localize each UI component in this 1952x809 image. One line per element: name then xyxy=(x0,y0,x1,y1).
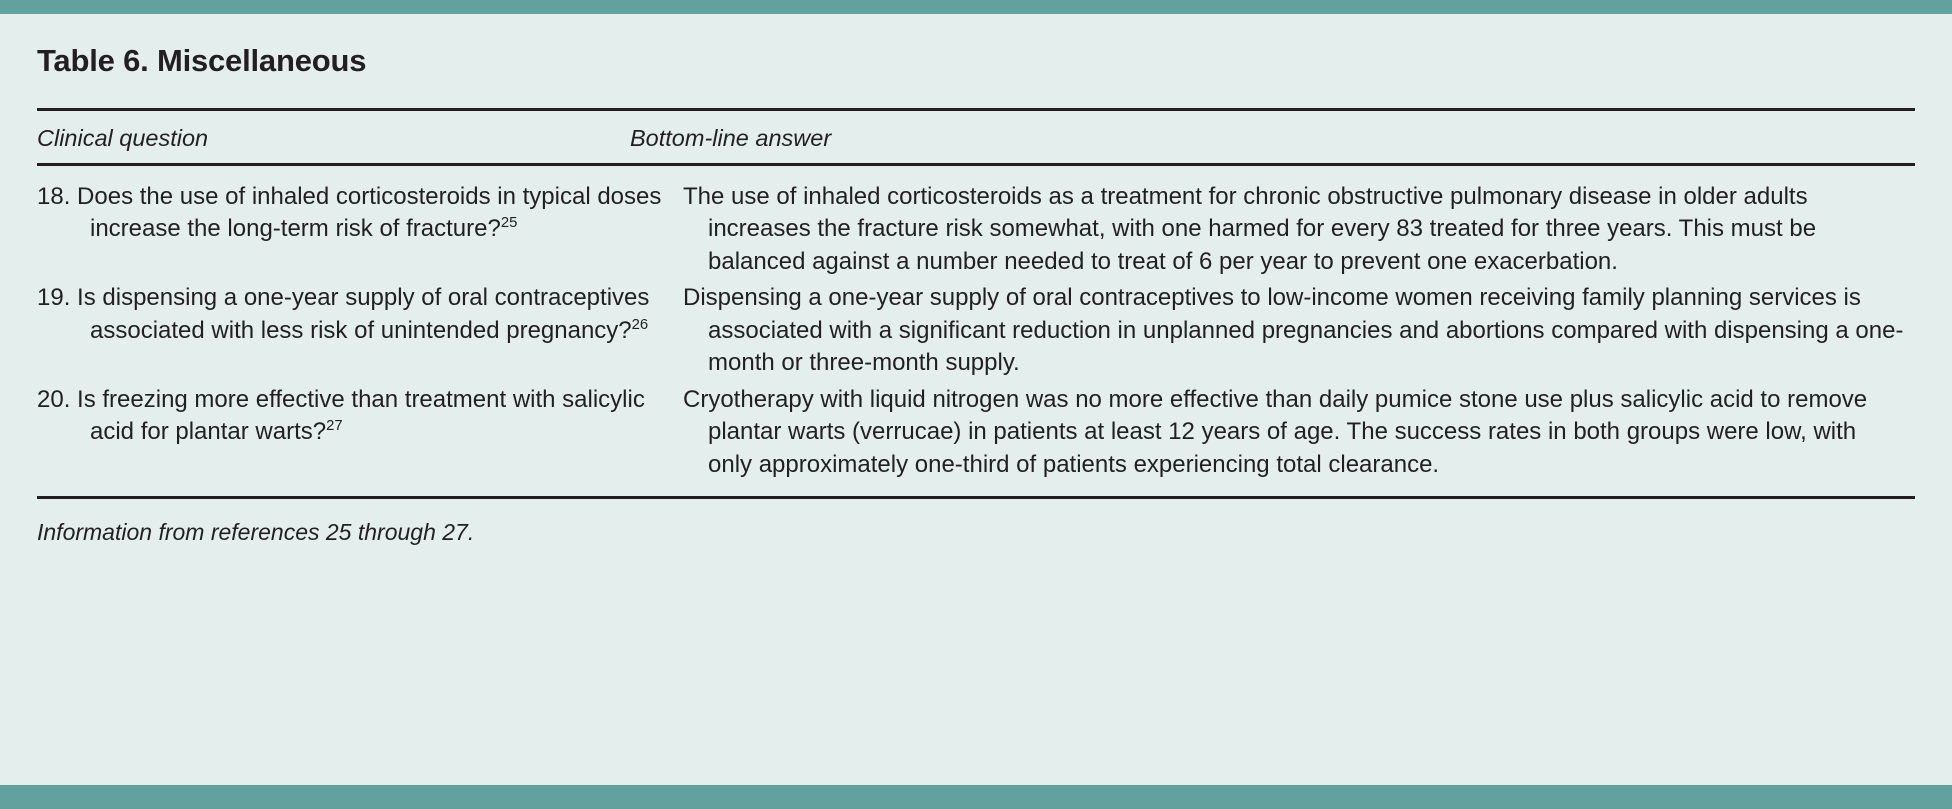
question-text: Is dispensing a one-year supply of oral … xyxy=(77,284,649,344)
column-header-clinical-question: Clinical question xyxy=(37,124,630,152)
question-cell: 20. Is freezing more effective than trea… xyxy=(37,384,683,482)
table-row: 20. Is freezing more effective than trea… xyxy=(37,384,1915,486)
answer-cell: Dispensing a one-year supply of oral con… xyxy=(683,282,1915,380)
column-header-bottom-line-answer: Bottom-line answer xyxy=(630,124,1915,152)
question-reference: 25 xyxy=(501,215,518,231)
question-reference: 27 xyxy=(326,418,343,434)
answer-cell: The use of inhaled corticosteroids as a … xyxy=(683,181,1915,279)
table-body: 18. Does the use of inhaled corticostero… xyxy=(37,166,1915,486)
table-inner: Table 6. Miscellaneous Clinical question… xyxy=(0,14,1952,785)
question-text: Is freezing more effective than treatmen… xyxy=(77,386,645,446)
table-row: 19. Is dispensing a one-year supply of o… xyxy=(37,282,1915,384)
footnote-text: Information from references 25 through 2… xyxy=(37,499,1915,547)
question-text: Does the use of inhaled corticosteroids … xyxy=(77,183,661,243)
table-title: Table 6. Miscellaneous xyxy=(37,14,1915,79)
question-cell: 19. Is dispensing a one-year supply of o… xyxy=(37,282,683,380)
table-row: 18. Does the use of inhaled corticostero… xyxy=(37,181,1915,283)
question-number: 18. xyxy=(37,183,70,210)
question-number: 19. xyxy=(37,284,70,311)
question-number: 20. xyxy=(37,386,70,413)
answer-cell: Cryotherapy with liquid nitrogen was no … xyxy=(683,384,1915,482)
question-cell: 18. Does the use of inhaled corticostero… xyxy=(37,181,683,279)
footnote-section: Information from references 25 through 2… xyxy=(37,485,1915,547)
table-header-row: Clinical question Bottom-line answer xyxy=(37,111,1915,163)
question-reference: 26 xyxy=(632,317,649,333)
table-figure: Table 6. Miscellaneous Clinical question… xyxy=(0,0,1952,809)
